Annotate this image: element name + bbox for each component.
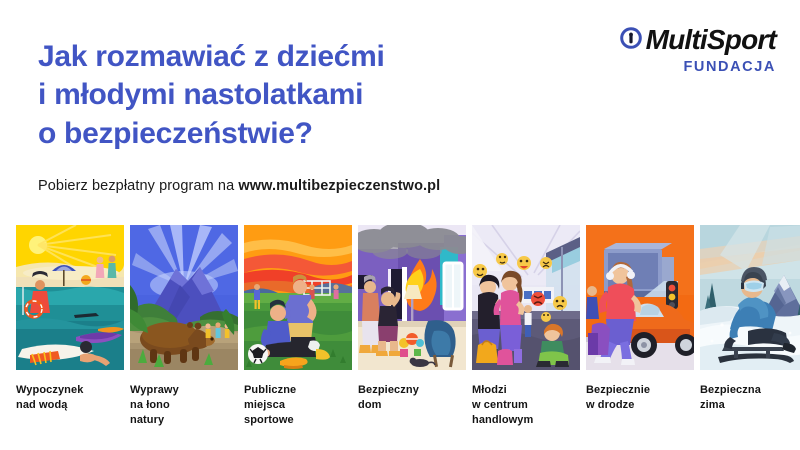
card-illustration-beach <box>16 225 124 370</box>
card-caption: Młodzi w centrum handlowym <box>472 383 580 428</box>
topic-card-bezpieczna-zima[interactable]: Bezpieczna zima <box>700 225 800 428</box>
headline-line-2: i młodymi nastolatkami <box>38 76 558 114</box>
logo-wordmark: MultiSport <box>646 26 776 54</box>
card-caption: Wyprawy na łono natury <box>130 383 238 428</box>
card-caption: Bezpieczny dom <box>358 383 466 413</box>
page-title: Jak rozmawiać z dziećmi i młodymi nastol… <box>38 38 558 153</box>
topic-card-mlodzi-w-centrum-handlowym[interactable]: Młodzi w centrum handlowym <box>472 225 580 428</box>
multisport-logo[interactable]: MultiSport FUNDACJA <box>620 26 776 75</box>
download-subtitle: Pobierz bezpłatny program na www.multibe… <box>38 178 440 194</box>
topic-card-publiczne-miejsca-sportowe[interactable]: Publiczne miejsca sportowe <box>244 225 352 428</box>
card-caption: Bezpiecznie w drodze <box>586 383 694 413</box>
topic-card-wyprawy-na-lono-natury[interactable]: Wyprawy na łono natury <box>130 225 238 428</box>
card-caption: Bezpieczna zima <box>700 383 800 413</box>
poster-root: Jak rozmawiać z dziećmi i młodymi nastol… <box>0 0 800 450</box>
card-caption: Publiczne miejsca sportowe <box>244 383 352 428</box>
program-url[interactable]: www.multibezpieczenstwo.pl <box>238 178 440 194</box>
card-illustration-nature <box>130 225 238 370</box>
card-illustration-sports <box>244 225 352 370</box>
topics-strip: Wypoczynek nad wodą <box>16 225 786 428</box>
card-illustration-mall <box>472 225 580 370</box>
card-illustration-home-fire <box>358 225 466 370</box>
topic-card-bezpiecznie-w-drodze[interactable]: Bezpiecznie w drodze <box>586 225 694 428</box>
multisport-circle-icon <box>620 27 642 54</box>
card-illustration-road <box>586 225 694 370</box>
logo-subtext: FUNDACJA <box>620 59 776 75</box>
subtitle-prefix: Pobierz bezpłatny program na <box>38 178 238 194</box>
headline-line-1: Jak rozmawiać z dziećmi <box>38 38 558 76</box>
headline-line-3: o bezpieczeństwie? <box>38 115 558 153</box>
topic-card-bezpieczny-dom[interactable]: Bezpieczny dom <box>358 225 466 428</box>
topic-card-wypoczynek-nad-woda[interactable]: Wypoczynek nad wodą <box>16 225 124 428</box>
card-caption: Wypoczynek nad wodą <box>16 383 124 413</box>
card-illustration-winter <box>700 225 800 370</box>
